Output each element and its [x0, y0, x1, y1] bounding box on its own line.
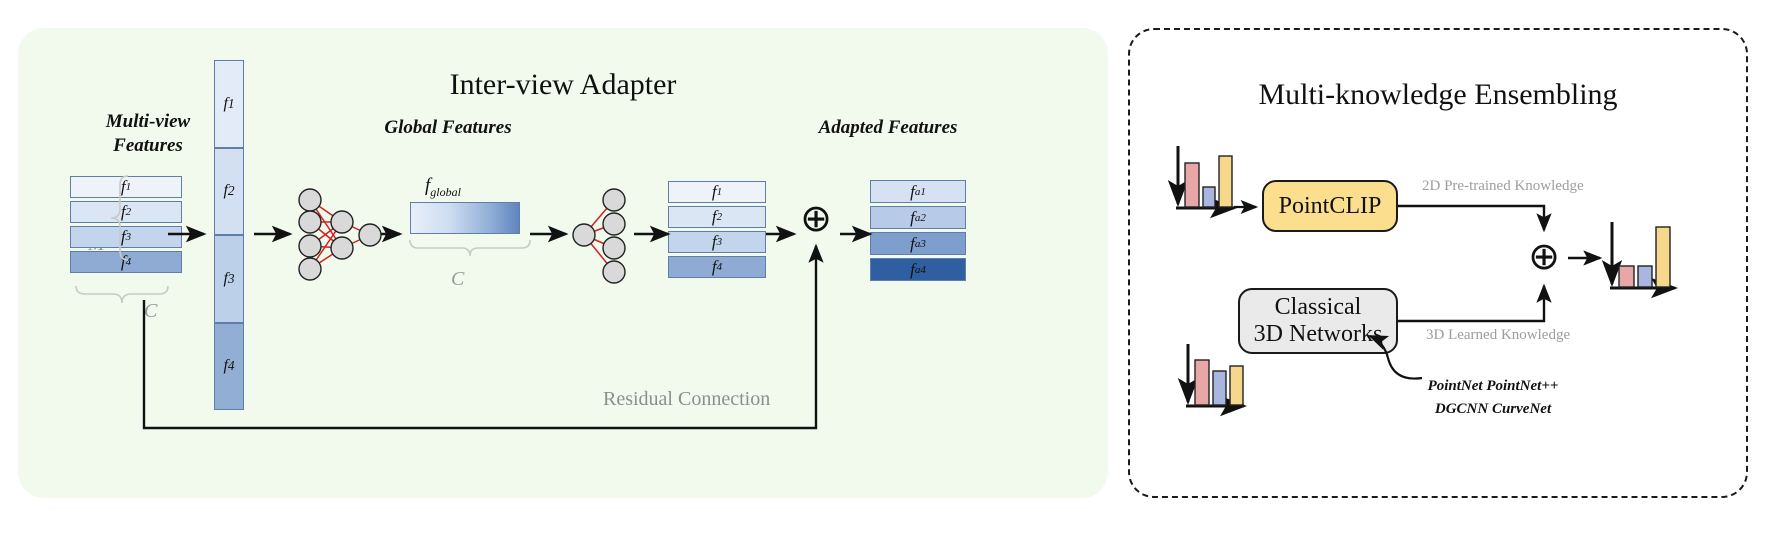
- concat-segment-2: f2: [214, 148, 244, 236]
- hist-pointclip-input: [1176, 146, 1234, 208]
- adapted-feature-3: fa3: [870, 232, 966, 255]
- concat-segment-3: f3: [214, 235, 244, 323]
- global-features-label: Global Features: [348, 116, 548, 140]
- global-features-text: Global Features: [384, 117, 511, 138]
- hist-ensembled-output: [1610, 222, 1675, 288]
- dim-c-global-text: C: [451, 268, 464, 290]
- edge-label-3d-knowledge: 3D Learned Knowledge: [1426, 327, 1570, 344]
- inter-view-adapter-title: Inter-view Adapter: [18, 68, 1108, 102]
- global-feature-bar: [410, 202, 520, 234]
- edge-label-2d-text: 2D Pre-trained Knowledge: [1422, 178, 1584, 194]
- edge-label-3d-text: 3D Learned Knowledge: [1426, 327, 1570, 343]
- pointclip-label: PointCLIP: [1279, 193, 1382, 220]
- expanded-feature-4: f4: [668, 256, 766, 278]
- multi-knowledge-ensembling-panel: Multi-knowledge Ensembling PointCLIP Cla…: [1128, 28, 1748, 498]
- network-names-label: PointNet PointNet++ DGCNN CurveNet: [1388, 375, 1598, 420]
- multi-view-feature-4: f4: [70, 251, 182, 273]
- pointclip-box[interactable]: PointCLIP: [1262, 180, 1398, 232]
- ensemble-sum-symbol: ⊕: [1524, 238, 1564, 278]
- dimension-c-global-label: C: [451, 268, 464, 291]
- inter-view-adapter-panel: Inter-view Adapter Multi-view Features G…: [18, 28, 1108, 498]
- classical-3d-networks-box[interactable]: Classical 3D Networks: [1238, 288, 1398, 354]
- edge-label-2d-knowledge: 2D Pre-trained Knowledge: [1422, 178, 1584, 195]
- multi-view-feature-2: f2: [70, 201, 182, 223]
- adapted-feature-2: fa2: [870, 206, 966, 229]
- f-global-label: fglobal: [425, 175, 461, 200]
- f-global-sub: global: [430, 185, 461, 199]
- multi-view-features-line2: Features: [113, 135, 183, 156]
- dim-c-input-text: C: [144, 300, 157, 322]
- multi-view-features-line1: Multi-view: [106, 111, 190, 132]
- expanded-feature-2: f2: [668, 206, 766, 228]
- classical-3d-networks-line1: Classical: [1275, 294, 1362, 321]
- adapted-feature-1: fa1: [870, 180, 966, 203]
- residual-connection-text: Residual Connection: [603, 388, 770, 410]
- residual-sum-symbol: ⊕: [796, 200, 836, 240]
- hist-3dnet-input: [1186, 344, 1244, 406]
- multi-view-feature-1: f1: [70, 176, 182, 198]
- concat-segment-1: f1: [214, 60, 244, 148]
- adapted-feature-4: fa4: [870, 258, 966, 281]
- network-names-row2: DGCNN CurveNet: [1435, 401, 1551, 417]
- multi-knowledge-ensembling-title: Multi-knowledge Ensembling: [1130, 78, 1746, 112]
- network-names-row1: PointNet PointNet++: [1428, 378, 1559, 394]
- expanded-feature-1: f1: [668, 181, 766, 203]
- classical-3d-networks-line2: 3D Networks: [1254, 321, 1383, 348]
- concat-segment-4: f4: [214, 323, 244, 411]
- multi-view-features-label: Multi-view Features: [58, 110, 238, 158]
- concatenated-feature-column: f1f2f3f4: [214, 60, 244, 410]
- adapted-features-text: Adapted Features: [819, 117, 958, 138]
- adapted-features-label: Adapted Features: [778, 116, 998, 140]
- multi-view-feature-3: f3: [70, 226, 182, 248]
- residual-connection-label: Residual Connection: [603, 388, 770, 411]
- dimension-c-input-label: C: [144, 300, 157, 323]
- expanded-feature-3: f3: [668, 231, 766, 253]
- diagram-root: Inter-view Adapter Multi-view Features G…: [0, 0, 1766, 550]
